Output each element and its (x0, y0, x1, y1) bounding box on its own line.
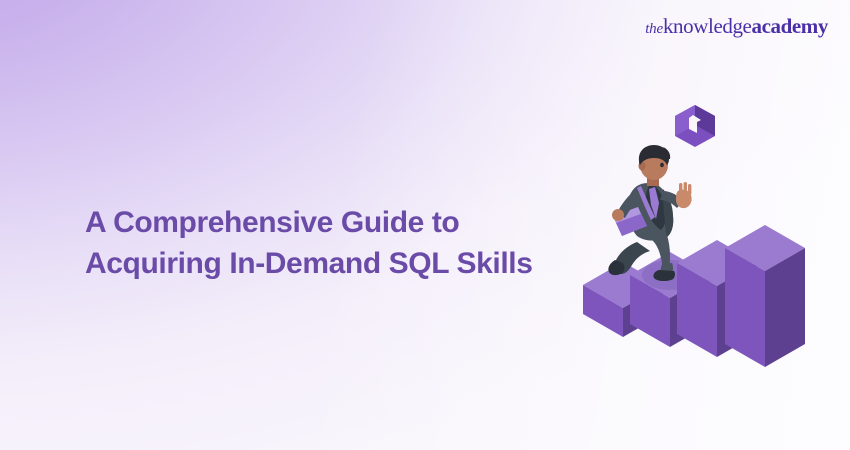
page-title-line-1: A Comprehensive Guide to (85, 202, 555, 243)
page-title: A Comprehensive Guide to Acquiring In-De… (85, 202, 555, 285)
figure-front-hand (676, 182, 692, 208)
page-title-line-2: Acquiring In-Demand SQL Skills (85, 243, 555, 284)
site-logo[interactable]: theknowledgeacademy (645, 16, 828, 37)
blog-banner: theknowledgeacademy A Comprehensive Guid… (0, 0, 850, 450)
hero-illustration (575, 85, 840, 385)
figure-back-hand (612, 209, 624, 221)
logo-text-academy: academy (751, 14, 828, 38)
figure-eye (660, 163, 664, 167)
chart-bar-4 (725, 225, 805, 367)
logo-text-the: the (645, 21, 663, 37)
logo-text-knowledge: knowledge (663, 14, 752, 38)
arrow-up-badge (675, 105, 715, 147)
figure-front-shoe (653, 270, 675, 281)
